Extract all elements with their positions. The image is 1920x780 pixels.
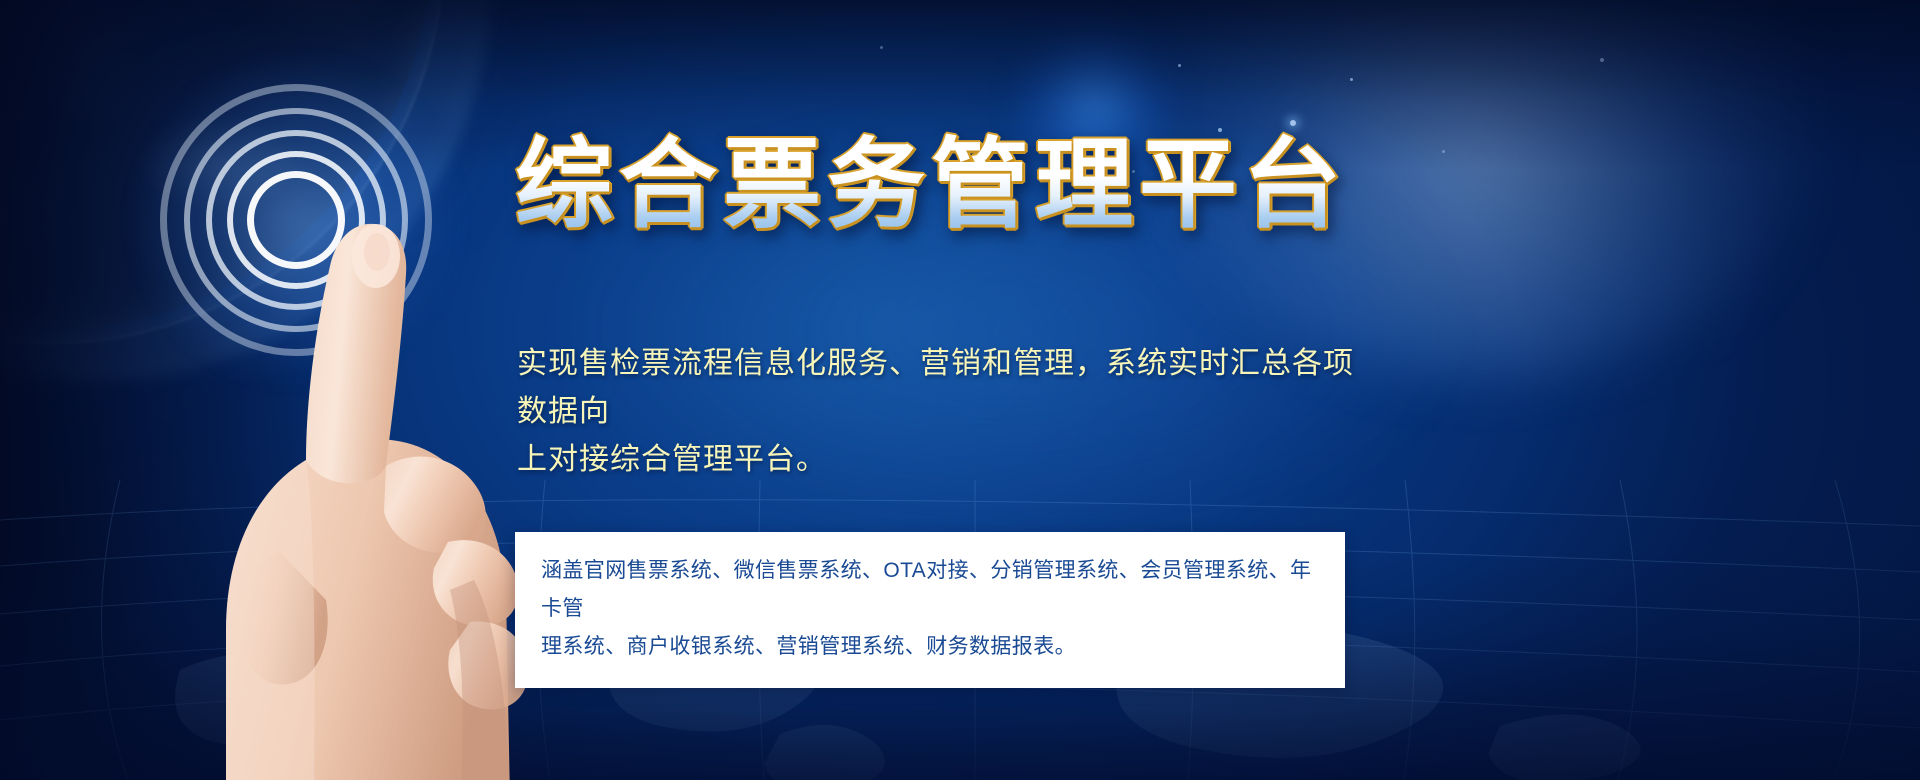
page-title: 综合票务管理平台 <box>515 132 1347 242</box>
particle-dot <box>1290 120 1296 126</box>
particle-dot <box>1600 58 1604 62</box>
particle-dot <box>1350 78 1353 81</box>
particle-dot <box>1442 150 1445 153</box>
info-box-line: 理系统、商户收银系统、营销管理系统、财务数据报表。 <box>541 628 1319 666</box>
particle-dot <box>1178 64 1181 67</box>
info-box-line: 涵盖官网售票系统、微信售票系统、OTA对接、分销管理系统、会员管理系统、年卡管 <box>541 552 1319 628</box>
banner-root: 综合票务管理平台 实现售检票流程信息化服务、营销和管理，系统实时汇总各项数据向 … <box>0 0 1920 780</box>
subtitle-line: 上对接综合管理平台。 <box>517 436 1377 484</box>
subtitle-line: 实现售检票流程信息化服务、营销和管理，系统实时汇总各项数据向 <box>517 340 1377 436</box>
banner-subtitle: 实现售检票流程信息化服务、营销和管理，系统实时汇总各项数据向 上对接综合管理平台… <box>517 340 1377 484</box>
feature-info-box: 涵盖官网售票系统、微信售票系统、OTA对接、分销管理系统、会员管理系统、年卡管 … <box>515 532 1345 688</box>
particle-dot <box>880 46 883 49</box>
